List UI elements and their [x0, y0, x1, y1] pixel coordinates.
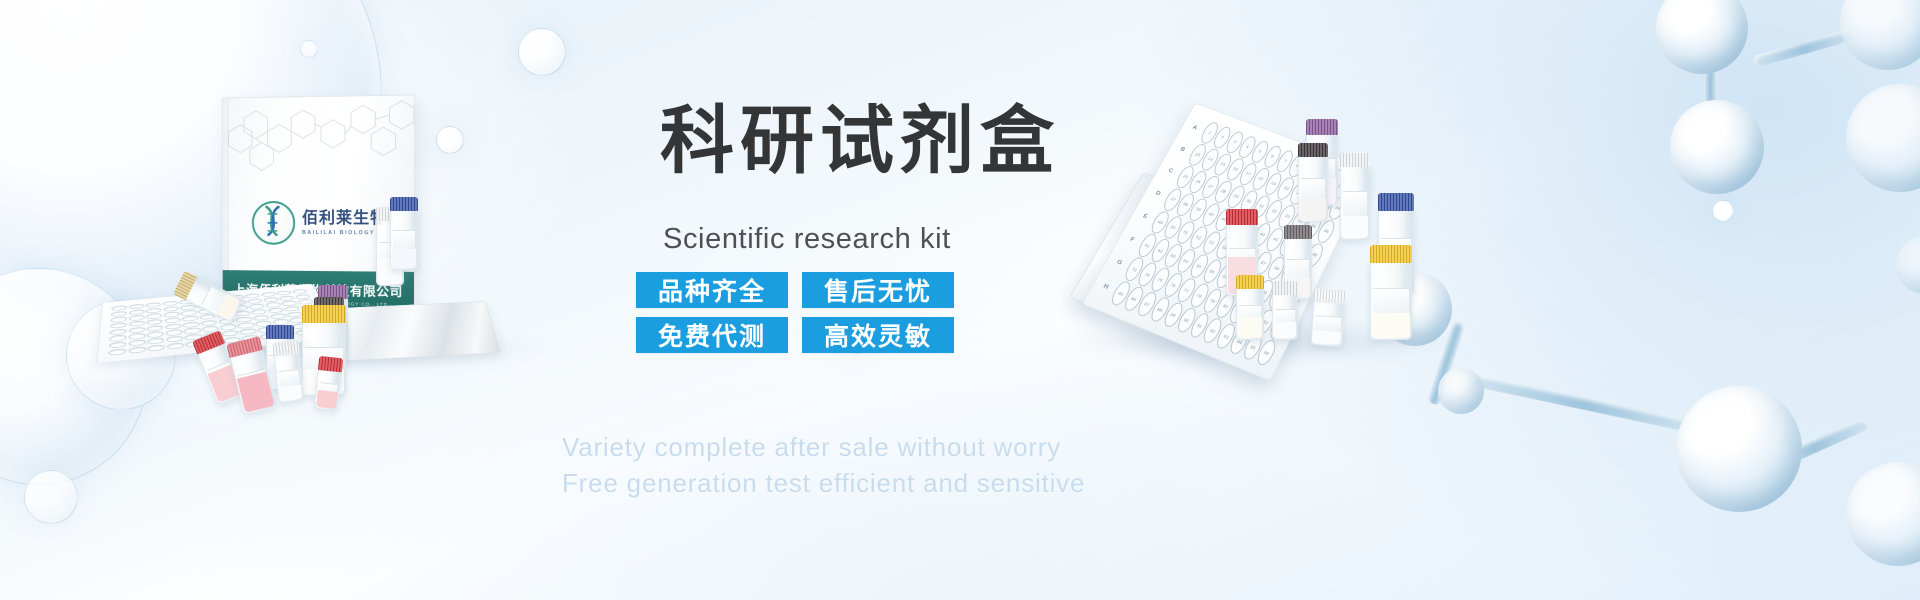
tagline-line-2: Free generation test efficient and sensi…	[562, 466, 1322, 502]
feature-badge-list: 品种齐全 售后无忧 免费代测 高效灵敏	[636, 272, 954, 353]
banner-title: 科研试剂盒	[660, 104, 1260, 178]
feature-badge-sensitive[interactable]: 高效灵敏	[802, 317, 954, 353]
feature-badge-freetest[interactable]: 免费代测	[636, 317, 788, 353]
banner-root: 佰利莱生物 BAILILAI BIOLOGY 上海佰利莱生物科技有限公司 SHA…	[0, 0, 1920, 600]
banner-copy: 科研试剂盒 Scientific research kit 品种齐全 售后无忧 …	[0, 0, 1920, 600]
tagline-line-1: Variety complete after sale without worr…	[562, 430, 1322, 466]
banner-tagline: Variety complete after sale without worr…	[562, 430, 1322, 502]
banner-subtitle: Scientific research kit	[663, 223, 1263, 256]
feature-badge-variety[interactable]: 品种齐全	[636, 272, 788, 308]
feature-badge-aftersale[interactable]: 售后无忧	[802, 272, 954, 308]
